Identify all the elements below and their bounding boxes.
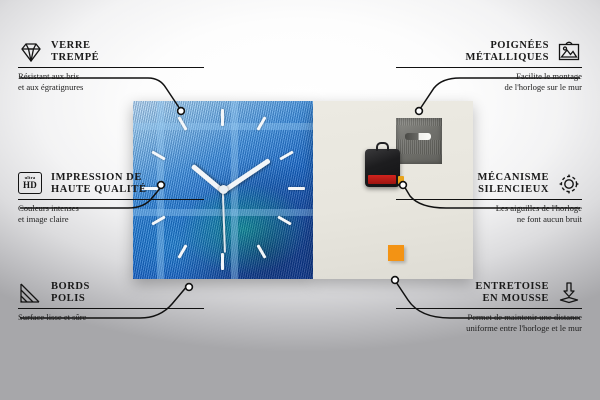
callout-subtitle: Permet de maintenir une distance uniform… <box>396 312 582 333</box>
callout-subtitle: Facilite le montage de l'horloge sur le … <box>396 71 582 92</box>
callout-head: ultra HD IMPRESSION DE HAUTE QUALITÉ <box>18 172 204 196</box>
callout-head: MÉCANISME SILENCIEUX <box>396 172 582 196</box>
callout-impression-haute-qualite: ultra HD IMPRESSION DE HAUTE QUALITÉ Cou… <box>18 172 204 224</box>
callout-title: VERRE TREMPÉ <box>51 40 99 64</box>
connector-endpoint <box>178 108 185 115</box>
gear-icon <box>556 172 582 196</box>
callout-title: IMPRESSION DE HAUTE QUALITÉ <box>51 172 147 196</box>
callout-title: BORDS POLIS <box>51 281 90 305</box>
callout-rule <box>18 67 204 68</box>
callout-subtitle: Couleurs intenses et image claire <box>18 203 204 224</box>
polished-edge-icon <box>18 281 44 305</box>
callout-rule <box>396 199 582 200</box>
infographic-stage: VERRE TREMPÉ Résistant aux bris et aux é… <box>0 0 600 400</box>
diamond-icon <box>18 40 44 64</box>
callout-head: VERRE TREMPÉ <box>18 40 204 64</box>
callout-rule <box>396 308 582 309</box>
callout-rule <box>18 199 204 200</box>
callout-subtitle: Résistant aux bris et aux égratignures <box>18 71 204 92</box>
callout-rule <box>396 67 582 68</box>
arrow-down-pad-icon <box>556 281 582 305</box>
ultra-hd-badge-icon: ultra HD <box>18 172 44 196</box>
callout-head: POIGNÉES MÉTALLIQUES <box>396 40 582 64</box>
callout-title: POIGNÉES MÉTALLIQUES <box>466 40 549 64</box>
callout-title: MÉCANISME SILENCIEUX <box>478 172 549 196</box>
callout-head: ENTRETOISE EN MOUSSE <box>396 281 582 305</box>
hd-badge-bottom: HD <box>23 181 37 190</box>
connector-endpoint <box>416 108 423 115</box>
callout-rule <box>18 308 204 309</box>
callout-verre-trempe: VERRE TREMPÉ Résistant aux bris et aux é… <box>18 40 204 92</box>
picture-frame-hanger-icon <box>556 40 582 64</box>
callout-entretoise-en-mousse: ENTRETOISE EN MOUSSE Permet de maintenir… <box>396 281 582 333</box>
callout-bords-polis: BORDS POLIS Surface lisse et sûre <box>18 281 204 323</box>
callout-head: BORDS POLIS <box>18 281 204 305</box>
callout-title: ENTRETOISE EN MOUSSE <box>475 281 549 305</box>
callout-poignees-metalliques: POIGNÉES MÉTALLIQUES Facilite le montage… <box>396 40 582 92</box>
callout-subtitle: Surface lisse et sûre <box>18 312 204 322</box>
callout-mecanisme-silencieux: MÉCANISME SILENCIEUX Les aiguilles de l'… <box>396 172 582 224</box>
callout-subtitle: Les aiguilles de l'horloge ne font aucun… <box>396 203 582 224</box>
